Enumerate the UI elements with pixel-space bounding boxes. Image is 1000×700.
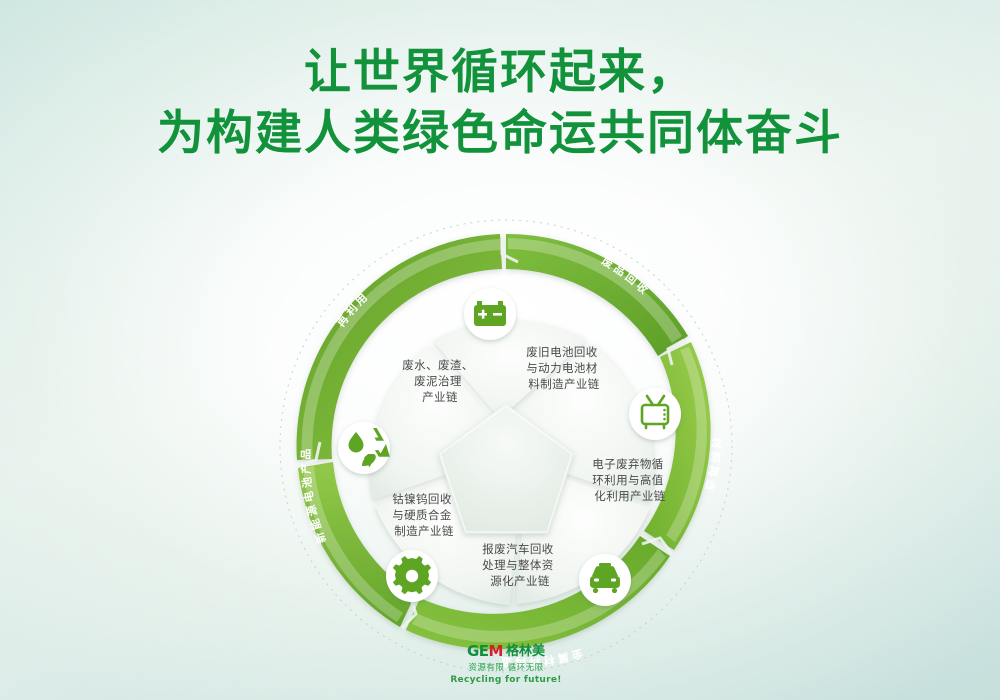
petal-ewaste-label: 电子废弃物循 环利用与高值 化利用产业链	[592, 457, 667, 503]
ring-label-metal-material-remake: 金属材料再造	[498, 646, 586, 669]
svg-text:电子废弃物循 环利用与高值: 电子废弃物循 环利用与高值 化利用产业链	[592, 457, 667, 503]
petal-scrap-car-label: 报废汽车回收 处理与整体资 源化产业链	[482, 542, 557, 588]
svg-text:废旧电池回收 与动力电池材: 废旧电池回收 与动力电池材 料制造产业链	[526, 345, 601, 391]
petal-cobalt-nickel-label: 钴镍钨回收 与硬质合金 制造产业链	[392, 492, 456, 538]
logo-slogan-en: Recycling for future!	[441, 675, 571, 685]
television-dots-icon	[663, 409, 666, 421]
five-industry-chain-diagram: 废品回收 材料再造 金属材料再造 新能源电池产品 再利用	[276, 216, 736, 676]
icon-bubble-television[interactable]	[629, 388, 681, 440]
poster-canvas: 让世界循环起来， 为构建人类绿色命运共同体奋斗	[0, 0, 1000, 700]
page-title-line-1: 让世界循环起来，	[0, 42, 1000, 103]
svg-text:钴镍钨回收 与硬质合金: 钴镍钨回收 与硬质合金 制造产业链	[392, 492, 456, 538]
page-title-line-2: 为构建人类绿色命运共同体奋斗	[0, 103, 1000, 164]
page-title: 让世界循环起来， 为构建人类绿色命运共同体奋斗	[0, 42, 1000, 164]
petal-battery-label: 废旧电池回收 与动力电池材 料制造产业链	[526, 345, 601, 391]
svg-text:报废汽车回收 处理与整体资: 报废汽车回收 处理与整体资 源化产业链	[482, 542, 557, 588]
icon-bubble-water-recycle[interactable]	[338, 422, 390, 474]
icon-bubble-gear[interactable]	[386, 550, 438, 602]
icon-bubble-car[interactable]	[579, 554, 631, 606]
icon-bubble-battery[interactable]	[464, 288, 516, 340]
ring-segment-material-remanufacture[interactable]	[644, 342, 711, 550]
